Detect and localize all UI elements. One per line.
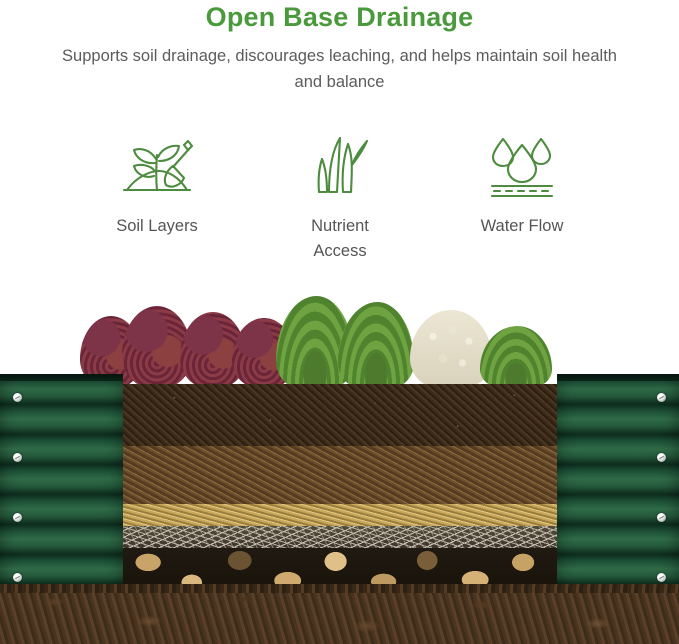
feature-list: Soil Layers Nutrient Access <box>0 132 679 264</box>
page-title: Open Base Drainage <box>0 0 679 34</box>
screw <box>657 393 666 402</box>
green-cabbage <box>480 326 552 388</box>
ground-soil <box>0 584 679 644</box>
feature-label-nutrient-access: Nutrient Access <box>251 214 429 264</box>
feature-water-flow: Water Flow <box>433 132 611 239</box>
bed-panel-left <box>0 374 123 596</box>
screw <box>13 393 22 402</box>
soil-cross-section <box>122 384 558 596</box>
feature-label-water-flow: Water Flow <box>433 214 611 239</box>
page-subtitle: Supports soil drainage, discourages leac… <box>60 43 620 95</box>
soil-layer-straw <box>122 504 558 526</box>
screw <box>13 573 22 582</box>
crop-row <box>80 288 580 388</box>
header: Open Base Drainage Supports soil drainag… <box>0 0 679 95</box>
garden-bed-photo <box>0 288 679 644</box>
water-droplets-flow-icon <box>433 132 611 200</box>
screw <box>13 453 22 462</box>
feature-nutrient-access: Nutrient Access <box>251 132 429 264</box>
bed-panel-right <box>557 374 679 596</box>
soil-layer-topsoil <box>122 384 558 446</box>
feature-label-soil-layers: Soil Layers <box>68 214 246 239</box>
product-feature-panel: Open Base Drainage Supports soil drainag… <box>0 0 679 644</box>
grass-blades-icon <box>251 132 429 200</box>
soil-layer-compost-mulch <box>122 446 558 504</box>
cauliflower <box>410 310 492 388</box>
screw <box>657 573 666 582</box>
soil-layer-twigs-branches <box>122 526 558 548</box>
green-cabbage <box>338 302 414 388</box>
screw <box>657 513 666 522</box>
screw <box>13 513 22 522</box>
screw <box>657 453 666 462</box>
feature-soil-layers: Soil Layers <box>68 132 246 239</box>
plant-shovel-soil-icon <box>68 132 246 200</box>
